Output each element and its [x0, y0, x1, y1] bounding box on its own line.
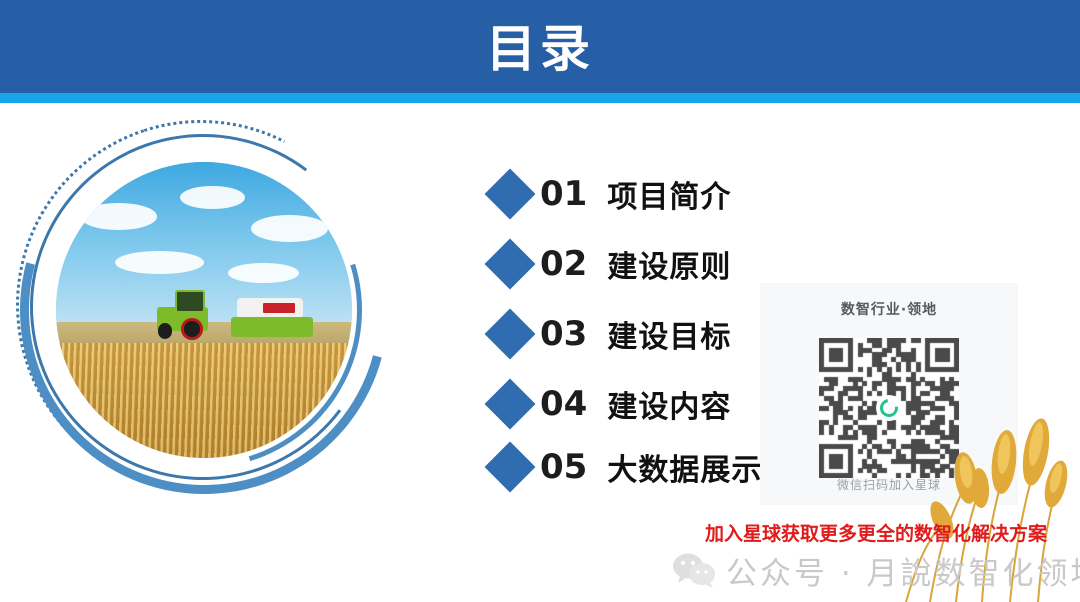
baler-brand-mark	[263, 303, 295, 313]
toc-number: 05	[540, 447, 587, 487]
cloud-icon	[80, 203, 157, 230]
page-title: 目录	[0, 0, 1080, 93]
qr-card-caption: 微信扫码加入星球	[760, 476, 1018, 493]
tractor-cab	[175, 290, 205, 313]
toc-label: 建设目标	[607, 312, 731, 356]
cloud-icon	[251, 215, 328, 242]
toc-number: 03	[540, 314, 587, 354]
qr-code-image[interactable]	[819, 338, 959, 478]
slide-header: 目录	[0, 0, 1080, 93]
baler-bottom	[231, 317, 313, 337]
qr-promo-card: 数智行业·领地 微信扫码加入星球	[760, 283, 1018, 505]
diamond-bullet-icon	[485, 379, 536, 430]
toc-item-01[interactable]: 01 项目简介	[486, 166, 731, 222]
watermark: 公众号 · 月說数智化领地	[672, 543, 1080, 597]
toc-number: 01	[540, 174, 587, 214]
toc-label: 大数据展示	[607, 445, 762, 489]
toc-number: 02	[540, 244, 587, 284]
watermark-text: 公众号 · 月說数智化领地	[726, 548, 1080, 593]
qr-card-title: 数智行业·领地	[760, 299, 1018, 319]
header-accent-stripe	[0, 93, 1080, 103]
diamond-bullet-icon	[485, 442, 536, 493]
wheat-field-region	[56, 343, 352, 458]
toc-label: 建设原则	[607, 242, 731, 286]
toc-item-05[interactable]: 05 大数据展示	[486, 439, 762, 495]
diamond-bullet-icon	[485, 309, 536, 360]
tractor-wheat-field-photo	[56, 162, 352, 458]
slide-root: 目录	[0, 0, 1080, 602]
promo-text: 加入星球获取更多更全的数智化解决方案	[676, 519, 1076, 546]
diamond-bullet-icon	[485, 169, 536, 220]
baler-illustration	[228, 298, 317, 336]
circular-photo-decoration	[8, 112, 428, 512]
toc-item-03[interactable]: 03 建设目标	[486, 306, 731, 362]
toc-item-02[interactable]: 02 建设原则	[486, 236, 731, 292]
toc-label: 建设内容	[607, 382, 731, 426]
tractor-rear-wheel	[181, 318, 203, 339]
wechat-scan-logo-icon	[876, 395, 902, 421]
tractor-front-wheel	[158, 323, 172, 338]
diamond-bullet-icon	[485, 239, 536, 290]
toc-label: 项目简介	[607, 172, 731, 216]
toc-item-04[interactable]: 04 建设内容	[486, 376, 731, 432]
cloud-icon	[228, 263, 299, 284]
toc-number: 04	[540, 384, 587, 424]
wechat-icon	[672, 551, 716, 589]
